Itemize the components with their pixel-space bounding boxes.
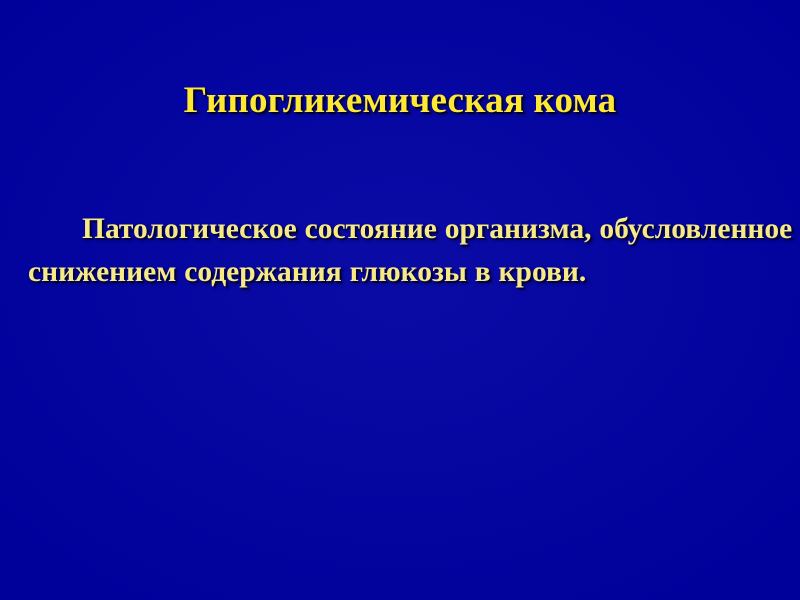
presentation-slide: Гипогликемическая кома Патологическое со… (0, 0, 800, 600)
slide-title: Гипогликемическая кома (0, 73, 800, 129)
slide-body-paragraph: Патологическое состояние организма, обус… (28, 208, 794, 294)
slide-body: Патологическое состояние организма, обус… (28, 208, 794, 294)
